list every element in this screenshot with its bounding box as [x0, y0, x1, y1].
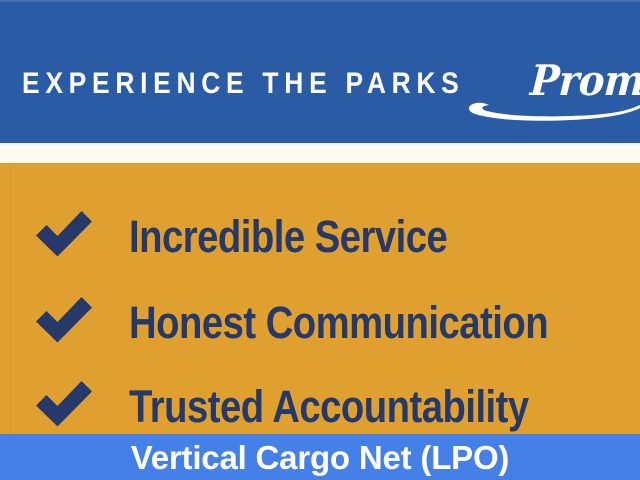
- headline-script-text: Promise: [529, 60, 640, 102]
- promise-item-label: Incredible Service: [129, 205, 447, 267]
- divider-band: [0, 143, 640, 163]
- header-band: EXPERIENCE THE PARKS Promise: [0, 0, 640, 143]
- headline-script-group: Promise: [529, 60, 640, 102]
- header-top-hairline: [0, 0, 640, 2]
- promise-panel: Incredible Service Honest Communication …: [0, 163, 640, 434]
- promise-item-label: Honest Communication: [129, 291, 548, 353]
- checkmark-icon: [36, 381, 92, 427]
- caption-bar: Vertical Cargo Net (LPO): [0, 434, 640, 480]
- experience-the-parks-promise-graphic: EXPERIENCE THE PARKS Promise Incredible …: [0, 0, 640, 480]
- checkmark-icon: [36, 297, 92, 343]
- promise-item: Trusted Accountability: [0, 375, 640, 434]
- header-headline: EXPERIENCE THE PARKS Promise: [22, 58, 622, 104]
- checkmark-icon: [36, 211, 92, 257]
- promise-item: Honest Communication: [0, 291, 640, 353]
- promise-item-label: Trusted Accountability: [129, 375, 529, 434]
- headline-caps-text: EXPERIENCE THE PARKS: [22, 69, 465, 99]
- divider-hairline: [0, 143, 640, 145]
- caption-text: Vertical Cargo Net (LPO): [131, 441, 509, 474]
- promise-item: Incredible Service: [0, 205, 640, 267]
